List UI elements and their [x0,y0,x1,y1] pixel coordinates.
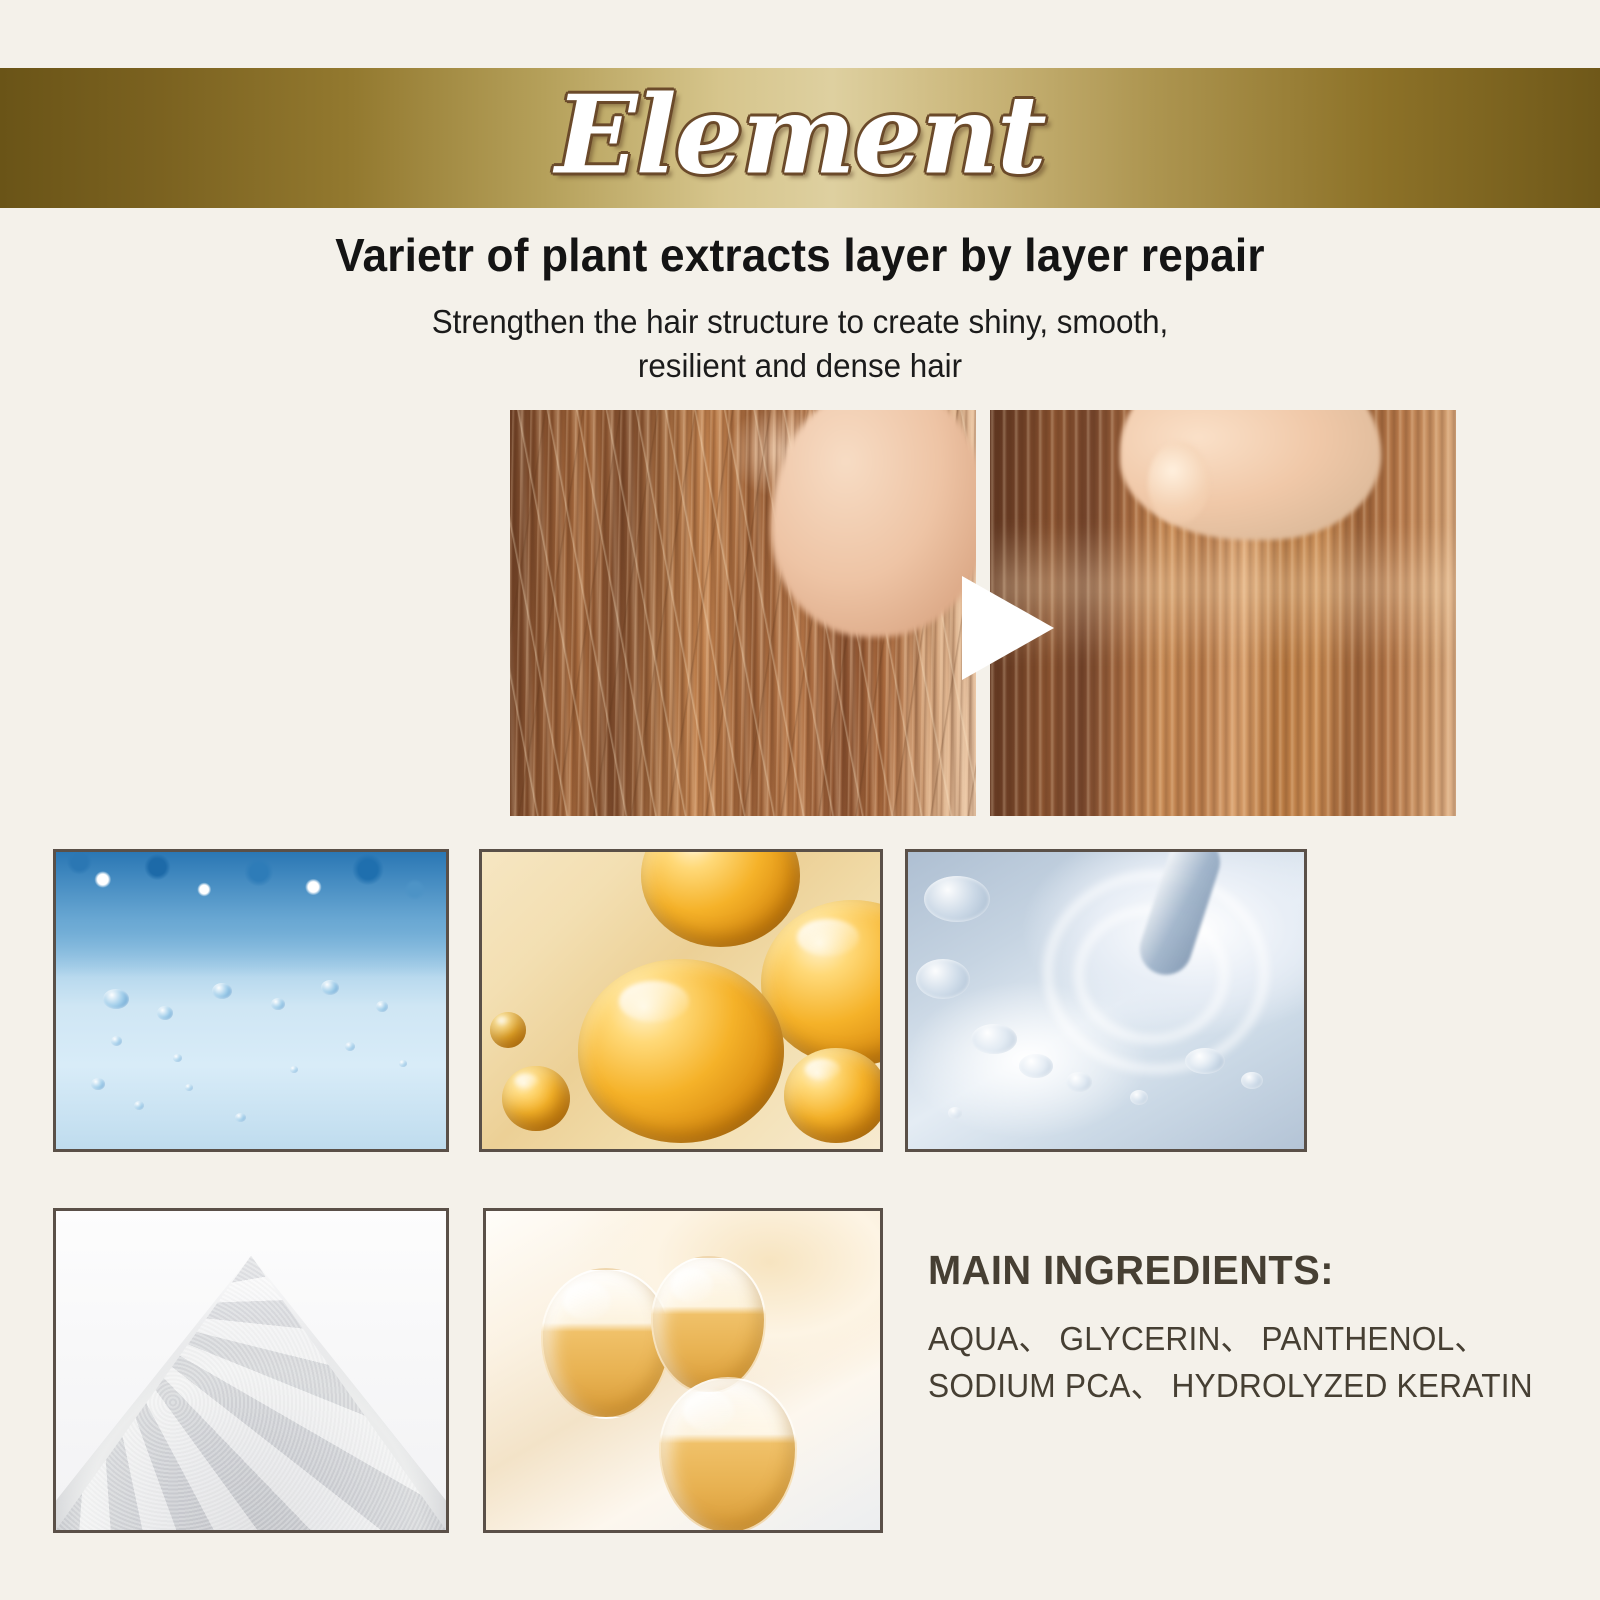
water-bubble [399,1060,407,1067]
main-ingredients-list: AQUA、 GLYCERIN、 PANTHENOL、 SODIUM PCA、 H… [928,1316,1542,1410]
hair-before-hand [771,410,976,637]
oil-droplet [502,1066,570,1131]
page-headline: Varietr of plant extracts layer by layer… [32,228,1568,282]
ingredients-line-2: SODIUM PCA、 HYDROLYZED KERATIN [928,1363,1542,1410]
subheadline-line-2: resilient and dense hair [40,344,1560,388]
oil-droplet [490,1012,526,1048]
hair-image-after [990,410,1456,816]
water-bubble [376,1001,388,1012]
gel-bubble [1241,1072,1263,1089]
subheadline-line-1: Strengthen the hair structure to create … [40,300,1560,344]
water-bubble [271,998,285,1010]
gel-bubble [924,876,990,922]
oil-droplet [784,1048,883,1143]
water-bubble [111,1036,122,1046]
hair-after-shine [990,524,1456,662]
hair-after-thumb [1148,442,1209,523]
water-bubble [173,1054,182,1062]
ingredient-tile-oil [479,849,883,1152]
brand-banner: Element [0,68,1600,208]
ingredient-tile-water [53,849,449,1152]
gel-bubble [1185,1048,1225,1074]
page-subheadline: Strengthen the hair structure to create … [40,300,1560,388]
oil-droplet [578,959,785,1143]
water-bubble [290,1066,298,1073]
serum-capsule [651,1256,765,1394]
brand-logo: Element [0,72,1600,198]
gel-bubble [1066,1072,1092,1092]
gel-bubble [1019,1054,1053,1078]
main-ingredients-title: MAIN INGREDIENTS: [928,1247,1549,1294]
water-foam [56,852,446,977]
water-bubble [185,1084,193,1091]
hair-image-before [510,410,976,816]
water-bubble [103,989,129,1009]
ingredient-tile-powder [53,1208,449,1533]
gel-bubble [948,1107,962,1119]
ingredient-tile-serum [483,1208,883,1533]
main-ingredients-block: MAIN INGREDIENTS: AQUA、 GLYCERIN、 PANTHE… [928,1247,1568,1410]
water-bubble [345,1042,355,1051]
water-bubble [212,983,232,999]
water-bubble [321,980,339,995]
gel-bubble [1130,1090,1148,1105]
ingredient-tile-gel [905,849,1307,1152]
play-triangle-right-icon [962,576,1054,680]
gel-bubble [916,959,970,999]
ingredients-line-1: AQUA、 GLYCERIN、 PANTHENOL、 [928,1316,1542,1363]
water-bubble [91,1078,105,1090]
